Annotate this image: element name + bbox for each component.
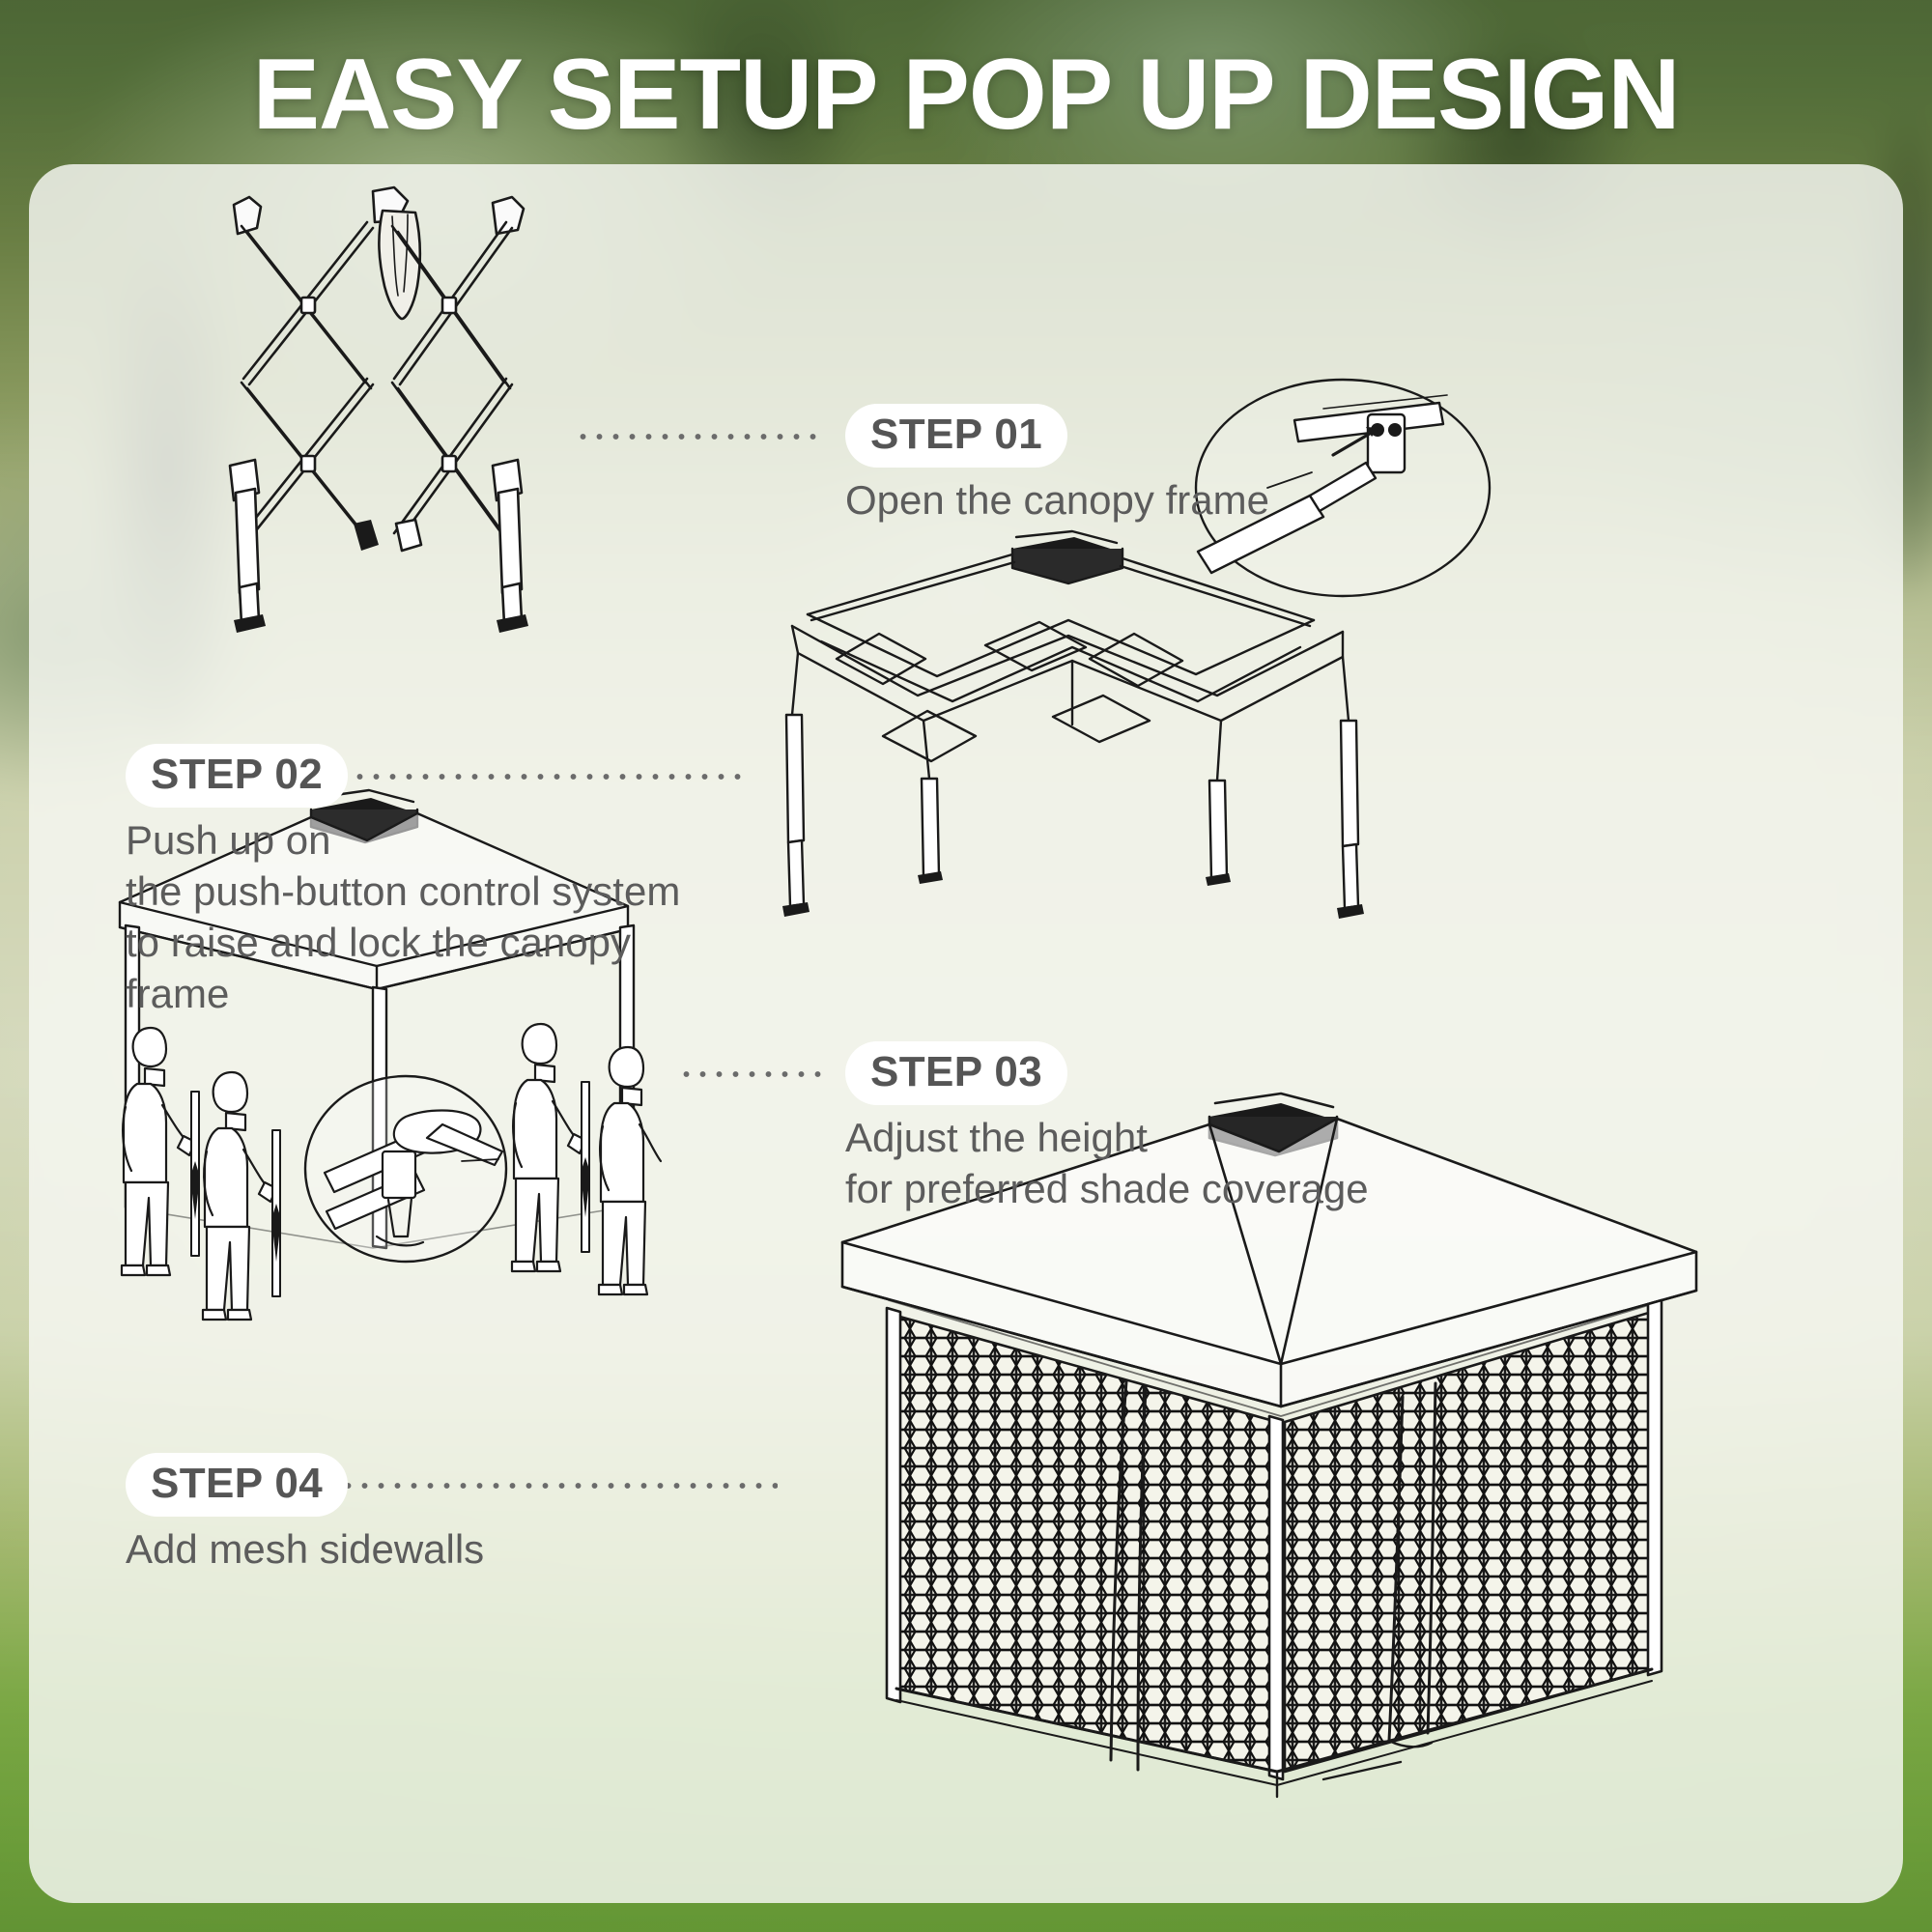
step-block-02: STEP 02 Push up on the push-button contr… — [126, 744, 744, 1020]
step-block-03: STEP 03 Adjust the height for preferred … — [845, 1041, 1425, 1215]
content-panel: STEP 01 Open the canopy frame STEP 02 Pu… — [29, 164, 1903, 1903]
step-description-03: Adjust the height for preferred shade co… — [845, 1113, 1425, 1215]
connector-dots-step-01 — [575, 432, 824, 441]
connector-dots-step-03 — [678, 1069, 821, 1079]
step-badge-02: STEP 02 — [126, 744, 348, 808]
step-block-04: STEP 04 Add mesh sidewalls — [126, 1453, 744, 1576]
step-badge-04: STEP 04 — [126, 1453, 348, 1517]
step-description-04: Add mesh sidewalls — [126, 1524, 744, 1576]
page-title: EASY SETUP POP UP DESIGN — [0, 41, 1932, 149]
step-badge-01: STEP 01 — [845, 404, 1067, 468]
illustration-folded-canopy-frame — [203, 184, 570, 589]
step-badge-03: STEP 03 — [845, 1041, 1067, 1105]
step-block-01: STEP 01 Open the canopy frame — [845, 404, 1386, 526]
step-description-02: Push up on the push-button control syste… — [126, 815, 744, 1020]
step-description-01: Open the canopy frame — [845, 475, 1386, 526]
